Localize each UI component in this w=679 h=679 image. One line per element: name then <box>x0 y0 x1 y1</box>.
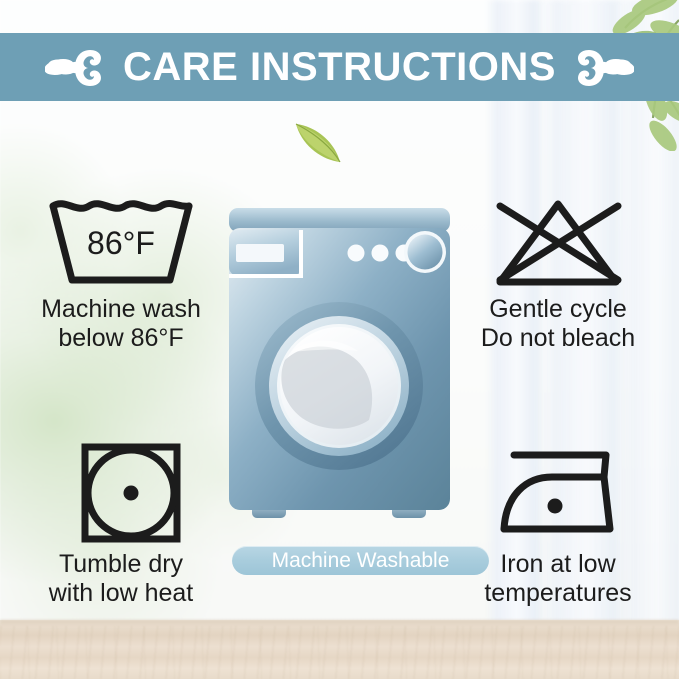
table-wood-grain <box>0 626 679 679</box>
symbol-cell-iron: Iron at low temperatures <box>446 443 670 608</box>
iron-one-dot-icon <box>482 443 634 543</box>
washing-machine-illustration <box>226 206 453 536</box>
symbol-cell-do-not-bleach: Gentle cycle Do not bleach <box>446 196 670 353</box>
symbol-cell-machine-wash: 86°F Machine wash below 86°F <box>14 196 228 353</box>
triangle-crossed-icon <box>482 196 634 288</box>
symbol-label-machine-wash: Machine wash below 86°F <box>41 295 201 353</box>
symbol-label-iron: Iron at low temperatures <box>484 550 631 608</box>
machine-washable-badge: Machine Washable <box>232 546 489 575</box>
page-title: CARE INSTRUCTIONS <box>123 45 556 90</box>
wash-tub-icon: 86°F <box>45 196 197 288</box>
badge-label: Machine Washable <box>272 550 450 571</box>
fleur-de-lis-right-icon <box>572 45 634 89</box>
tumble-dry-low-icon <box>45 443 197 543</box>
care-instructions-poster: CARE INSTRUCTIONS 86°F Machine wash belo… <box>0 0 679 679</box>
wash-temperature-text: 86°F <box>87 225 155 261</box>
washer-drawer-handle <box>236 244 284 262</box>
falling-leaf-icon <box>292 118 348 166</box>
washer-indicator-dot <box>372 245 389 262</box>
washer-dial-knob <box>408 235 443 270</box>
fleur-de-lis-left-icon <box>45 45 107 89</box>
symbol-cell-tumble-dry: Tumble dry with low heat <box>14 443 228 608</box>
symbol-label-do-not-bleach: Gentle cycle Do not bleach <box>481 295 635 353</box>
header-banner: CARE INSTRUCTIONS <box>0 33 679 101</box>
symbol-label-tumble-dry: Tumble dry with low heat <box>49 550 194 608</box>
washer-indicator-dot <box>348 245 365 262</box>
